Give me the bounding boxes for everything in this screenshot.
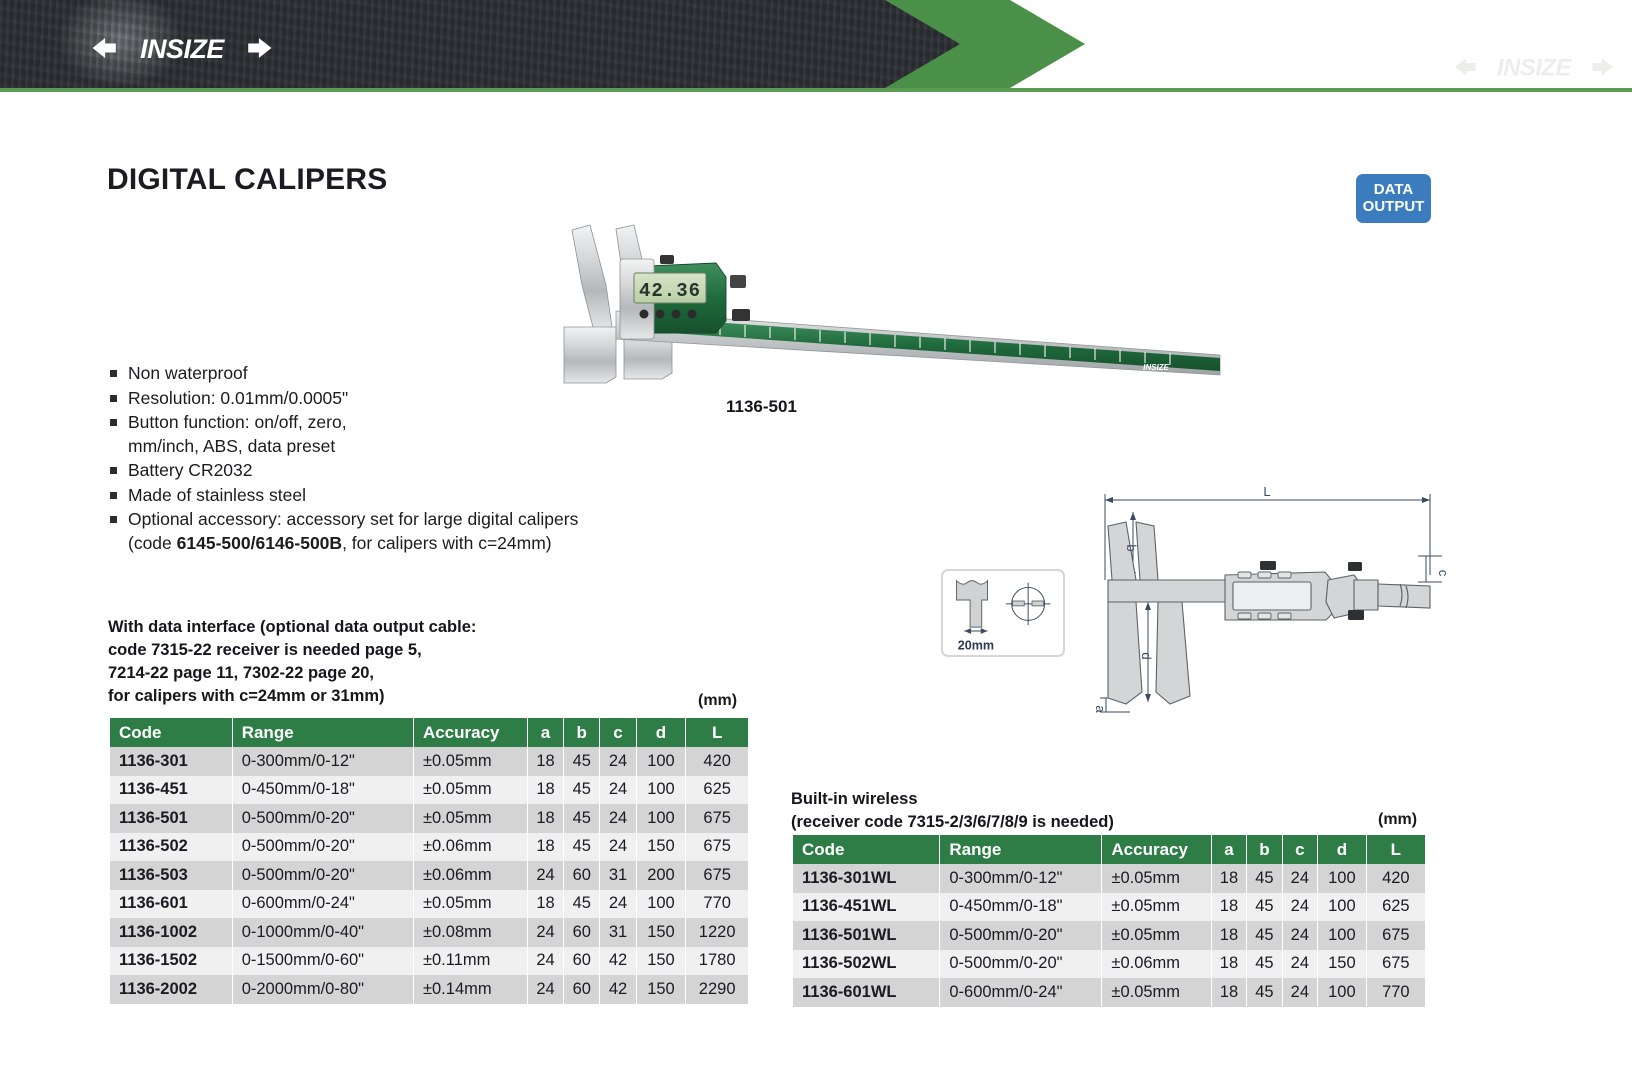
cell-accuracy: ±0.05mm (413, 804, 527, 833)
cell-b: 45 (564, 804, 600, 833)
column-header-d: d (636, 718, 686, 747)
cell-range: 0-500mm/0-20" (940, 950, 1102, 979)
cell-d: 150 (636, 918, 686, 947)
column-header-d: d (1318, 835, 1367, 864)
cell-a: 18 (1211, 950, 1246, 979)
cell-accuracy: ±0.11mm (413, 947, 527, 976)
column-header-b: b (1247, 835, 1282, 864)
cell-c: 24 (1282, 950, 1317, 979)
cell-range: 0-500mm/0-20" (232, 833, 413, 862)
table-row: 1136-301WL0-300mm/0-12"±0.05mm1845241004… (793, 864, 1425, 893)
insize-watermark-logo: INSIZE (1444, 52, 1624, 82)
cell-a: 24 (527, 947, 563, 976)
left-table-body: 1136-3010-300mm/0-12"±0.05mm184524100420… (110, 747, 748, 1004)
page-title: DIGITAL CALIPERS (107, 163, 387, 197)
cell-range: 0-1500mm/0-60" (232, 947, 413, 976)
feature-label: Battery CR2032 (128, 459, 253, 483)
cell-b: 45 (564, 776, 600, 805)
column-header-c: c (600, 718, 636, 747)
cell-b: 45 (1247, 950, 1282, 979)
column-header-a: a (527, 718, 563, 747)
cell-l: 675 (686, 804, 748, 833)
cell-l: 1780 (686, 947, 748, 976)
cell-code: 1136-503 (110, 861, 232, 890)
cell-code: 1136-2002 (110, 975, 232, 1004)
cell-d: 100 (636, 890, 686, 919)
cell-a: 18 (527, 776, 563, 805)
cell-a: 18 (1211, 921, 1246, 950)
cell-range: 0-300mm/0-12" (940, 864, 1102, 893)
table-row: 1136-601WL0-600mm/0-24"±0.05mm1845241007… (793, 978, 1425, 1007)
cell-l: 625 (1366, 893, 1425, 922)
cell-d: 100 (636, 776, 686, 805)
cell-c: 24 (1282, 893, 1317, 922)
cell-l: 1220 (686, 918, 748, 947)
cell-accuracy: ±0.06mm (1102, 950, 1211, 979)
cell-code: 1136-501 (110, 804, 232, 833)
cell-l: 625 (686, 776, 748, 805)
cell-accuracy: ±0.05mm (413, 747, 527, 776)
cell-c: 42 (600, 975, 636, 1004)
label-a: a (1093, 705, 1108, 713)
cell-b: 60 (564, 947, 600, 976)
cell-code: 1136-601WL (793, 978, 940, 1007)
cell-range: 0-500mm/0-20" (232, 804, 413, 833)
cell-range: 0-300mm/0-12" (232, 747, 413, 776)
cell-l: 2290 (686, 975, 748, 1004)
cell-code: 1136-502WL (793, 950, 940, 979)
cell-code: 1136-451WL (793, 893, 940, 922)
cell-b: 45 (1247, 978, 1282, 1007)
table-row: 1136-5010-500mm/0-20"±0.05mm184524100675 (110, 804, 748, 833)
cell-c: 24 (600, 747, 636, 776)
jaw-detail-inset: 20mm (941, 569, 1065, 657)
right-table-body: 1136-301WL0-300mm/0-12"±0.05mm1845241004… (793, 864, 1425, 1007)
column-header-a: a (1211, 835, 1246, 864)
cell-accuracy: ±0.05mm (413, 776, 527, 805)
cell-d: 100 (1318, 893, 1367, 922)
cell-l: 675 (686, 833, 748, 862)
column-header-code: Code (793, 835, 940, 864)
cell-range: 0-1000mm/0-40" (232, 918, 413, 947)
cell-code: 1136-502 (110, 833, 232, 862)
data-output-badge: DATA OUTPUT (1356, 174, 1431, 223)
table-row: 1136-501WL0-500mm/0-20"±0.05mm1845241006… (793, 921, 1425, 950)
cell-d: 100 (1318, 864, 1367, 893)
cell-accuracy: ±0.14mm (413, 975, 527, 1004)
cell-code: 1136-301WL (793, 864, 940, 893)
cell-accuracy: ±0.05mm (1102, 893, 1211, 922)
cell-d: 150 (1318, 950, 1367, 979)
svg-text:INSIZE: INSIZE (1143, 363, 1169, 372)
cell-c: 42 (600, 947, 636, 976)
column-header-range: Range (940, 835, 1102, 864)
data-output-line2: OUTPUT (1363, 199, 1425, 216)
cell-a: 18 (1211, 893, 1246, 922)
cell-accuracy: ±0.06mm (413, 861, 527, 890)
product-photo-1136-501: 42.36 INSIZE (520, 215, 1250, 395)
cell-l: 675 (686, 861, 748, 890)
feature-label-continued: mm/inch, ABS, data preset (128, 435, 347, 459)
bullet-square-icon (110, 419, 117, 426)
column-header-c: c (1282, 835, 1317, 864)
column-header-accuracy: Accuracy (1102, 835, 1211, 864)
cell-b: 45 (1247, 893, 1282, 922)
bullet-square-icon (110, 395, 117, 402)
cell-b: 45 (564, 833, 600, 862)
data-output-line1: DATA (1374, 182, 1413, 199)
cell-b: 45 (1247, 864, 1282, 893)
cell-a: 18 (527, 804, 563, 833)
cell-range: 0-500mm/0-20" (940, 921, 1102, 950)
cell-code: 1136-601 (110, 890, 232, 919)
left-spec-table: CodeRangeAccuracyabcdL 1136-3010-300mm/0… (110, 718, 748, 1004)
left-table-note: With data interface (optional data outpu… (108, 616, 476, 708)
cell-a: 24 (527, 975, 563, 1004)
list-item: Optional accessory: accessory set for la… (110, 508, 710, 555)
accessory-suffix: , for calipers with c=24mm) (342, 533, 552, 553)
cell-b: 60 (564, 918, 600, 947)
cell-b: 60 (564, 975, 600, 1004)
cell-l: 675 (1366, 921, 1425, 950)
cell-a: 24 (527, 861, 563, 890)
inset-dimension-label: 20mm (958, 638, 994, 652)
column-header-l: L (686, 718, 748, 747)
feature-label: Made of stainless steel (128, 484, 306, 508)
label-b: b (1124, 544, 1139, 551)
cell-c: 24 (600, 890, 636, 919)
table-row: 1136-20020-2000mm/0-80"±0.14mm2460421502… (110, 975, 748, 1004)
cell-c: 24 (1282, 978, 1317, 1007)
cell-accuracy: ±0.08mm (413, 918, 527, 947)
column-header-range: Range (232, 718, 413, 747)
svg-text:42.36: 42.36 (639, 280, 701, 302)
table-header-row: CodeRangeAccuracyabcdL (110, 718, 748, 747)
cell-l: 675 (1366, 950, 1425, 979)
label-d: d (1139, 652, 1154, 659)
bullet-square-icon (110, 370, 117, 377)
cell-code: 1136-301 (110, 747, 232, 776)
label-c: c (1436, 570, 1450, 577)
svg-text:INSIZE: INSIZE (1497, 56, 1573, 82)
label-L: L (1263, 484, 1270, 499)
insize-logo: INSIZE (92, 31, 272, 65)
cell-code: 1136-501WL (793, 921, 940, 950)
feature-label: Button function: on/off, zero, (128, 411, 347, 435)
table-row: 1136-451WL0-450mm/0-18"±0.05mm1845241006… (793, 893, 1425, 922)
cell-l: 770 (686, 890, 748, 919)
cell-d: 100 (636, 747, 686, 776)
cell-a: 18 (1211, 864, 1246, 893)
cell-c: 24 (1282, 921, 1317, 950)
list-item: Made of stainless steel (110, 484, 710, 508)
feature-label-continued: (code 6145-500/6146-500B, for calipers w… (128, 532, 578, 556)
cell-c: 31 (600, 918, 636, 947)
cell-b: 45 (564, 747, 600, 776)
cell-c: 31 (600, 861, 636, 890)
feature-label: Resolution: 0.01mm/0.0005" (128, 387, 348, 411)
table-row: 1136-15020-1500mm/0-60"±0.11mm2460421501… (110, 947, 748, 976)
cell-d: 200 (636, 861, 686, 890)
cell-range: 0-600mm/0-24" (232, 890, 413, 919)
table-header-row: CodeRangeAccuracyabcdL (793, 835, 1425, 864)
table-row: 1136-5030-500mm/0-20"±0.06mm246031200675 (110, 861, 748, 890)
column-header-l: L (1366, 835, 1425, 864)
feature-label: Optional accessory: accessory set for la… (128, 508, 578, 532)
cell-range: 0-450mm/0-18" (232, 776, 413, 805)
cell-d: 150 (636, 833, 686, 862)
bullet-square-icon (110, 492, 117, 499)
cell-c: 24 (600, 833, 636, 862)
cell-accuracy: ±0.05mm (413, 890, 527, 919)
cell-c: 24 (600, 804, 636, 833)
cell-a: 24 (527, 918, 563, 947)
cell-a: 18 (527, 890, 563, 919)
cell-b: 45 (564, 890, 600, 919)
cell-accuracy: ±0.06mm (413, 833, 527, 862)
column-header-b: b (564, 718, 600, 747)
right-table-unit: (mm) (1378, 811, 1417, 829)
cell-c: 24 (1282, 864, 1317, 893)
table-row: 1136-502WL0-500mm/0-20"±0.06mm1845241506… (793, 950, 1425, 979)
bullet-square-icon (110, 467, 117, 474)
column-header-accuracy: Accuracy (413, 718, 527, 747)
cell-l: 770 (1366, 978, 1425, 1007)
list-item: Battery CR2032 (110, 459, 710, 483)
cell-a: 18 (527, 747, 563, 776)
cell-code: 1136-451 (110, 776, 232, 805)
cell-d: 150 (636, 947, 686, 976)
table-row: 1136-10020-1000mm/0-40"±0.08mm2460311501… (110, 918, 748, 947)
feature-label: Non waterproof (128, 362, 248, 386)
cell-l: 420 (1366, 864, 1425, 893)
table-row: 1136-5020-500mm/0-20"±0.06mm184524150675 (110, 833, 748, 862)
accessory-prefix: (code (128, 533, 177, 553)
cell-code: 1136-1002 (110, 918, 232, 947)
cell-range: 0-600mm/0-24" (940, 978, 1102, 1007)
cell-a: 18 (1211, 978, 1246, 1007)
cell-d: 100 (1318, 978, 1367, 1007)
cell-accuracy: ±0.05mm (1102, 921, 1211, 950)
cell-b: 45 (1247, 921, 1282, 950)
cell-accuracy: ±0.05mm (1102, 864, 1211, 893)
cell-accuracy: ±0.05mm (1102, 978, 1211, 1007)
cell-code: 1136-1502 (110, 947, 232, 976)
product-caption: 1136-501 (726, 397, 797, 417)
left-table-unit: (mm) (698, 692, 737, 710)
table-row: 1136-4510-450mm/0-18"±0.05mm184524100625 (110, 776, 748, 805)
right-spec-table: CodeRangeAccuracyabcdL 1136-301WL0-300mm… (793, 835, 1425, 1007)
list-item: Button function: on/off, zero, mm/inch, … (110, 411, 710, 458)
accessory-code: 6145-500/6146-500B (177, 533, 342, 553)
cell-d: 100 (1318, 921, 1367, 950)
svg-text:INSIZE: INSIZE (140, 34, 225, 64)
table-row: 1136-3010-300mm/0-12"±0.05mm184524100420 (110, 747, 748, 776)
cell-range: 0-2000mm/0-80" (232, 975, 413, 1004)
cell-l: 420 (686, 747, 748, 776)
column-header-code: Code (110, 718, 232, 747)
cell-d: 100 (636, 804, 686, 833)
cell-b: 60 (564, 861, 600, 890)
cell-a: 18 (527, 833, 563, 862)
right-table-note: Built-in wireless (receiver code 7315-2/… (791, 788, 1114, 834)
banner-bottom-rule (0, 88, 1632, 92)
header-banner: INSIZE (0, 0, 1632, 95)
bullet-square-icon (110, 516, 117, 523)
cell-d: 150 (636, 975, 686, 1004)
cell-c: 24 (600, 776, 636, 805)
cell-range: 0-500mm/0-20" (232, 861, 413, 890)
table-row: 1136-6010-600mm/0-24"±0.05mm184524100770 (110, 890, 748, 919)
cell-range: 0-450mm/0-18" (940, 893, 1102, 922)
